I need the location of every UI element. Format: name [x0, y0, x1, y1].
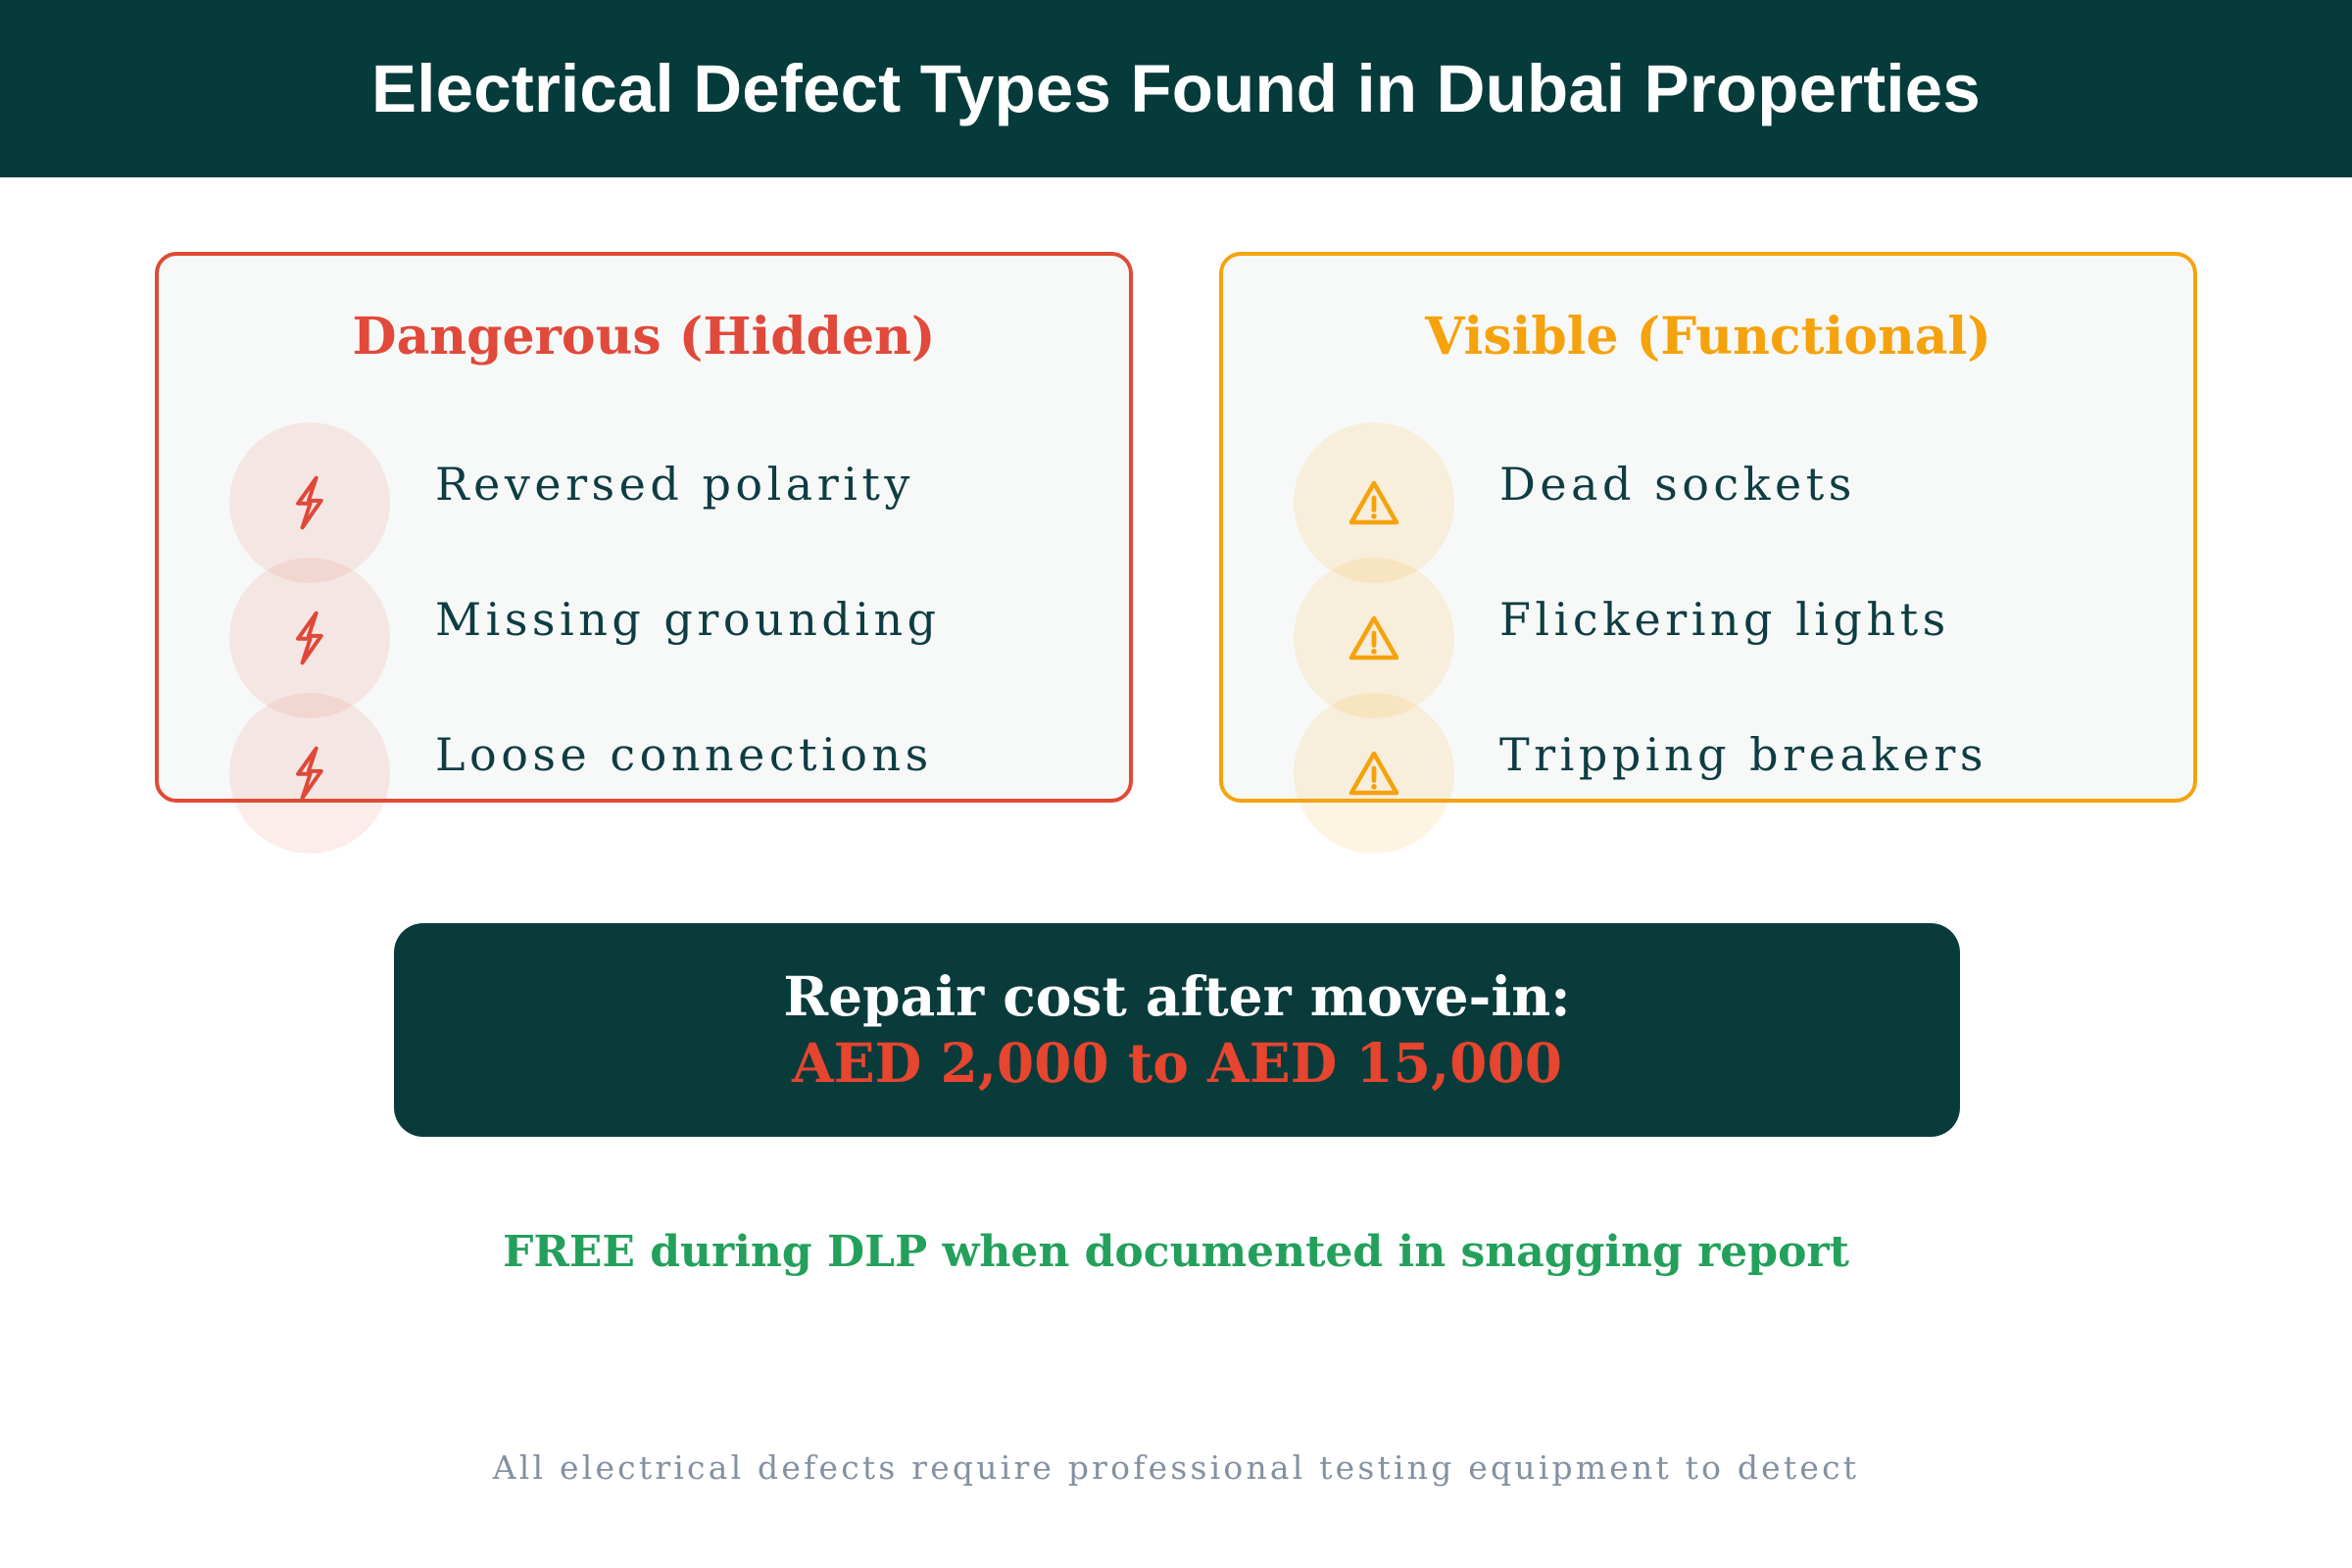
visible-defect-list: Dead sockets Flickering lights: [1223, 422, 2193, 828]
warning-triangle-icon: [1294, 693, 1454, 854]
dangerous-defect-list: Reversed polarity Missing grounding Loos…: [159, 422, 1129, 828]
repair-cost-label: Repair cost after move-in:: [783, 966, 1570, 1027]
repair-cost-banner: Repair cost after move-in: AED 2,000 to …: [394, 923, 1960, 1137]
page-title: Electrical Defect Types Found in Dubai P…: [371, 50, 1981, 127]
card-dangerous-hidden: Dangerous (Hidden) Reversed polarity Mis…: [155, 252, 1133, 803]
card-dangerous-title: Dangerous (Hidden): [159, 307, 1129, 367]
list-item: Missing grounding: [159, 558, 1129, 693]
header-bar: Electrical Defect Types Found in Dubai P…: [0, 0, 2352, 177]
free-dlp-note: FREE during DLP when documented in snagg…: [0, 1227, 2352, 1277]
lightning-bolt-icon: [229, 693, 390, 854]
list-item-label: Tripping breakers: [1499, 728, 1987, 781]
list-item-label: Flickering lights: [1499, 593, 1950, 646]
list-item: Tripping breakers: [1223, 693, 2193, 828]
card-visible-title: Visible (Functional): [1223, 307, 2193, 367]
infographic-page: Electrical Defect Types Found in Dubai P…: [0, 0, 2352, 1568]
footer-note: All electrical defects require professio…: [0, 1448, 2352, 1487]
list-item-label: Missing grounding: [435, 593, 941, 646]
list-item-label: Loose connections: [435, 728, 933, 781]
list-item: Reversed polarity: [159, 422, 1129, 558]
list-item: Flickering lights: [1223, 558, 2193, 693]
list-item-label: Reversed polarity: [435, 458, 914, 511]
repair-cost-value: AED 2,000 to AED 15,000: [792, 1033, 1562, 1094]
card-visible-functional: Visible (Functional) Dead sockets: [1219, 252, 2197, 803]
list-item-label: Dead sockets: [1499, 458, 1856, 511]
list-item: Loose connections: [159, 693, 1129, 828]
list-item: Dead sockets: [1223, 422, 2193, 558]
